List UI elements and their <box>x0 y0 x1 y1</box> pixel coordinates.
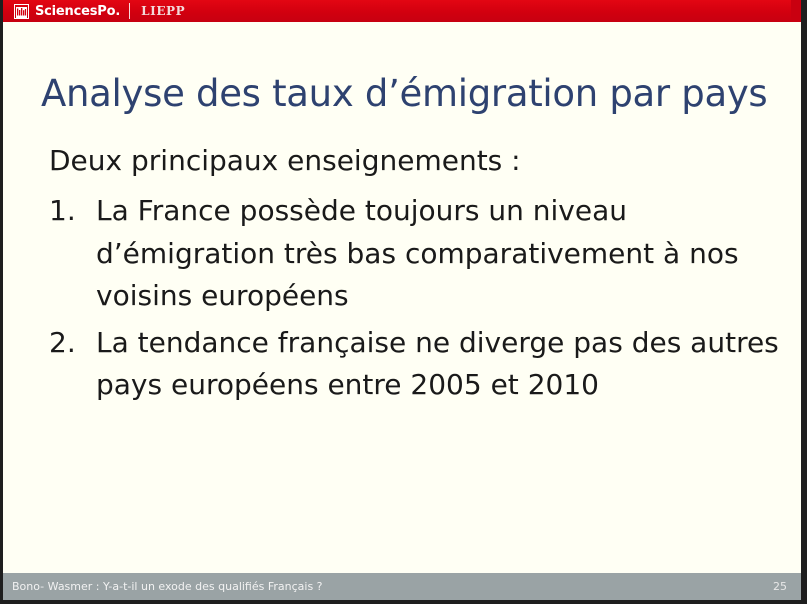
list-item-marker: 1. <box>49 190 89 233</box>
page-number: 25 <box>773 581 801 592</box>
slide-footer: Bono- Wasmer : Y-a-t-il un exode des qua… <box>3 573 801 600</box>
brand-divider <box>129 3 130 19</box>
sciencespo-crest-icon <box>14 4 29 19</box>
sciencespo-wordmark: SciencesPo. <box>35 5 120 18</box>
list-item-marker: 2. <box>49 322 89 365</box>
brand-bar: SciencesPo. LIEPP <box>3 0 801 22</box>
list-item: 2. La tendance française ne diverge pas … <box>49 322 779 407</box>
slide-content: Deux principaux enseignements : 1. La Fr… <box>49 144 779 411</box>
footer-title: Bono- Wasmer : Y-a-t-il un exode des qua… <box>3 581 323 592</box>
lead-text: Deux principaux enseignements : <box>49 144 779 178</box>
list-item-text: La tendance française ne diverge pas des… <box>96 322 779 407</box>
liepp-wordmark: LIEPP <box>141 5 185 17</box>
page-title: Analyse des taux d’émigration par pays <box>41 73 781 114</box>
list-item: 1. La France possède toujours un niveau … <box>49 190 779 318</box>
presentation-slide: SciencesPo. LIEPP Analyse des taux d’émi… <box>0 0 807 604</box>
numbered-list: 1. La France possède toujours un niveau … <box>49 190 779 407</box>
list-item-text: La France possède toujours un niveau d’é… <box>96 190 779 318</box>
